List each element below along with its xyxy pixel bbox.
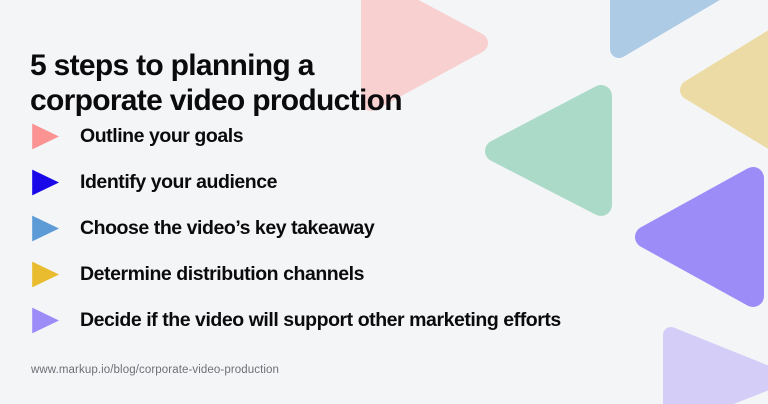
source-url[interactable]: www.markup.io/blog/corporate-video-produ… [31, 364, 279, 376]
list-item: Choose the video’s key takeaway [30, 205, 750, 251]
list-item-label: Decide if the video will support other m… [80, 309, 561, 332]
list-item: Determine distribution channels [30, 251, 750, 297]
content-layer: 5 steps to planning a corporate video pr… [0, 0, 768, 404]
play-triangle-icon [30, 167, 61, 198]
list-item-label: Choose the video’s key takeaway [80, 217, 374, 240]
list-item: Outline your goals [30, 113, 750, 159]
list-item: Decide if the video will support other m… [30, 297, 750, 343]
play-triangle-icon [30, 121, 61, 152]
infographic-canvas: 5 steps to planning a corporate video pr… [0, 0, 768, 404]
list-item-label: Outline your goals [80, 125, 243, 148]
play-triangle-icon [30, 259, 61, 290]
page-title: 5 steps to planning a corporate video pr… [30, 48, 550, 118]
list-item-label: Identify your audience [80, 171, 277, 194]
steps-list: Outline your goals Identify your audienc… [30, 113, 750, 343]
play-triangle-icon [30, 213, 61, 244]
list-item: Identify your audience [30, 159, 750, 205]
list-item-label: Determine distribution channels [80, 263, 364, 286]
play-triangle-icon [30, 305, 61, 336]
